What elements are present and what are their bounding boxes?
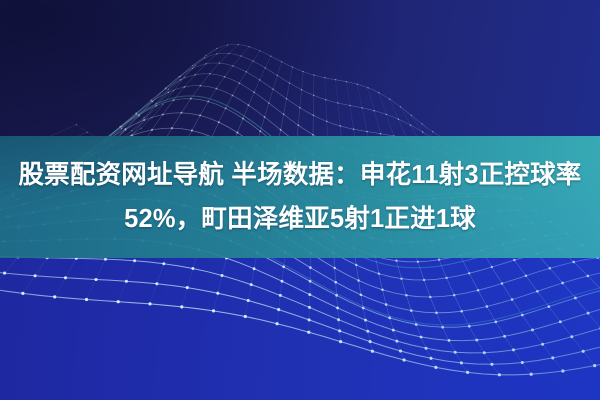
headline-line-2: 52%，町田泽维亚5射1正进1球 bbox=[124, 198, 476, 240]
headline-line-1: 股票配资网址导航 半场数据：申花11射3正控球率 bbox=[18, 154, 581, 196]
background-navy-top bbox=[0, 0, 600, 138]
banner-graphic: 股票配资网址导航 半场数据：申花11射3正控球率 52%，町田泽维亚5射1正进1… bbox=[0, 0, 600, 400]
background-blue-bottom bbox=[0, 258, 600, 400]
page-title: 股票配资网址导航 半场数据：申花11射3正控球率 52%，町田泽维亚5射1正进1… bbox=[0, 136, 600, 258]
